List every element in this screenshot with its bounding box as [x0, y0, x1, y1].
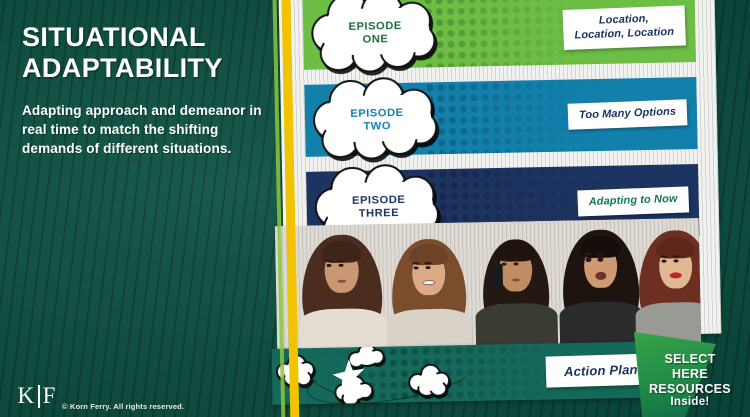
resources-callout[interactable]: SELECT HERE RESOURCES Inside!: [636, 352, 744, 410]
speech-bubble-icon-2: EPISODE TWO: [312, 76, 442, 163]
page-subtitle: Adapting approach and demeanor in real t…: [22, 101, 280, 159]
comic-puff-icon: [408, 363, 453, 398]
episode-3-line-2: THREE: [359, 207, 400, 220]
person-woman-2: [383, 230, 475, 354]
resources-line-2: HERE: [636, 367, 744, 382]
page-title-line-1: SITUATIONAL: [22, 22, 280, 53]
logo-divider: [38, 385, 40, 408]
episode-2-topic-chip[interactable]: Too Many Options: [567, 99, 687, 129]
episode-2-bubble-label: EPISODE TWO: [312, 76, 442, 163]
episode-2-chip-line-1: Too Many Options: [579, 106, 677, 122]
episode-1-chip-line-2: Location, Location: [575, 26, 675, 42]
page-title: SITUATIONAL ADAPTABILITY: [22, 22, 280, 85]
resources-line-4: Inside!: [636, 396, 744, 410]
hero-text-block: SITUATIONAL ADAPTABILITY Adapting approa…: [22, 22, 280, 159]
episode-3-topic-chip[interactable]: Adapting to Now: [577, 186, 689, 216]
episode-1-chip-line-1: Location,: [599, 13, 649, 27]
episode-panel-1[interactable]: EPISODE ONE Location, Location, Location: [303, 0, 696, 70]
speech-bubble-icon-1: EPISODE ONE: [310, 0, 440, 76]
person-woman-5: [631, 224, 701, 350]
episode-3-line-1: EPISODE: [352, 194, 405, 208]
comic-puff-icon: [347, 343, 388, 374]
episode-3-chip-line-1: Adapting to Now: [589, 193, 678, 208]
episode-2-line-2: TWO: [363, 120, 391, 133]
episode-2-line-1: EPISODE: [350, 107, 403, 121]
page-title-line-2: ADAPTABILITY: [22, 53, 280, 84]
phone-icon: [492, 264, 503, 290]
episode-1-line-2: ONE: [362, 33, 388, 46]
logo-letter-f: F: [43, 383, 57, 409]
logo-letter-k: K: [18, 383, 36, 409]
episode-1-bubble-label: EPISODE ONE: [310, 0, 440, 76]
korn-ferry-logo: KF: [12, 381, 62, 411]
resources-line-3: RESOURCES: [636, 382, 744, 397]
copyright-text: © Korn Ferry. All rights reserved.: [62, 402, 184, 411]
episode-1-line-1: EPISODE: [348, 20, 401, 34]
person-woman-3: [471, 227, 561, 353]
slide-canvas: SITUATIONAL ADAPTABILITY Adapting approa…: [0, 0, 750, 417]
action-plan-bar[interactable]: Action Plan: [271, 341, 672, 405]
episode-1-topic-chip[interactable]: Location, Location, Location: [563, 5, 686, 49]
episode-panel-2[interactable]: EPISODE TWO Too Many Options: [304, 77, 697, 157]
person-woman-1: [295, 228, 389, 356]
action-plan-label: Action Plan: [564, 362, 638, 379]
resources-line-1: SELECT: [636, 352, 744, 367]
